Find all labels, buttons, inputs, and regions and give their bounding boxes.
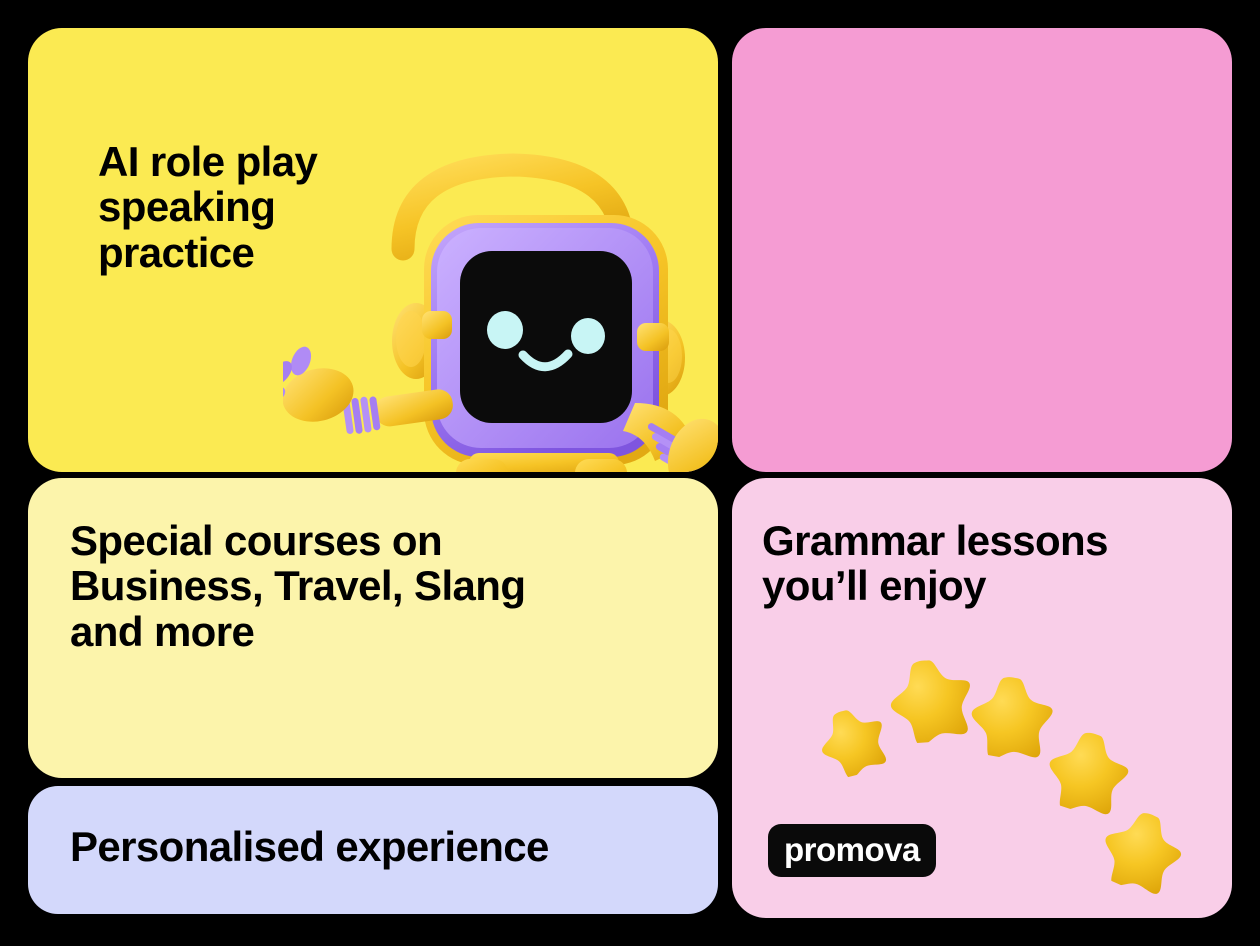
grammar-lessons-card[interactable]: Grammar lessons you’ll enjoy	[732, 478, 1232, 918]
personalised-experience-card[interactable]: Personalised experience	[28, 786, 718, 914]
grammar-lessons-headline: Grammar lessons you’ll enjoy	[762, 518, 1232, 609]
robot-3d-icon	[283, 123, 718, 472]
five-minute-lessons-card[interactable]: 5 minute lessons with real-life vocabula…	[732, 28, 1232, 472]
ai-role-play-card[interactable]: AI role play speaking practice	[28, 28, 718, 472]
special-courses-card[interactable]: Special courses on Business, Travel, Sla…	[28, 478, 718, 778]
ai-role-play-headline: AI role play speaking practice	[98, 139, 317, 275]
promova-logo[interactable]: promova	[768, 824, 936, 877]
special-courses-headline: Special courses on Business, Travel, Sla…	[70, 518, 718, 654]
personalised-experience-headline: Personalised experience	[70, 826, 718, 868]
promova-logo-text: promova	[784, 833, 920, 866]
promova-feature-collage: AI role play speaking practice	[0, 0, 1260, 946]
